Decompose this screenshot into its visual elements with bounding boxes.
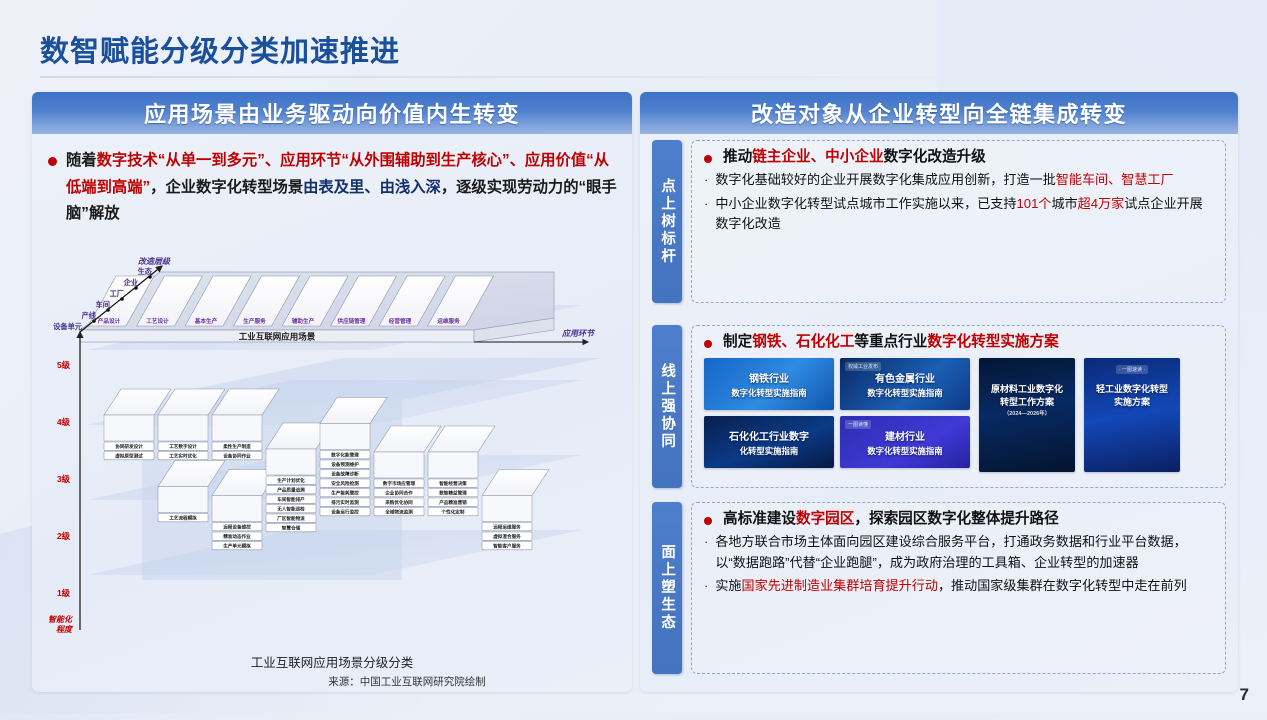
plane-label: 工业互联网应用场景 xyxy=(239,332,316,342)
maturity-level-label: 4级 xyxy=(57,417,71,427)
layer-level-label: 产线 xyxy=(82,311,97,320)
scene-box-label: 智能经营决策 xyxy=(439,480,467,487)
document-thumbnail[interactable]: 原材料工业数字化转型工作方案（2024—2026年） xyxy=(979,358,1075,472)
left-panel: 应用场景由业务驱动向价值内生转变 随着数字技术“从单一到多元”、应用环节“从外围… xyxy=(32,92,632,692)
section-tab-2[interactable]: 线上强协同 xyxy=(652,325,682,488)
section-heading: 推动链主企业、中小企业数字化改造升级 xyxy=(704,148,1215,167)
section-body-1: 推动链主企业、中小企业数字化改造升级· 数字化基础较好的企业开展数字化集成应用创… xyxy=(691,140,1226,303)
scene-box-label: 企业协同合作 xyxy=(384,490,413,497)
scene-box-label: 数字市场应管理 xyxy=(383,480,416,487)
scene-box-label: 数字化能管理 xyxy=(331,452,359,459)
diagram-source: 来源：中国工业互联网研究院绘制 xyxy=(32,674,632,689)
scene-box-label: 全域物流监测 xyxy=(384,509,413,516)
right-section-1: 点上树标杆 推动链主企业、中小企业数字化改造升级· 数字化基础较好的企业开展数字… xyxy=(652,140,1226,303)
axis-label-bottom-1: 智能化 xyxy=(48,615,74,624)
scene-box-label: 设备故障诊断 xyxy=(331,471,359,478)
thumb-grid-left: 钢铁行业数字化转型实施指南权威工业发布有色金属行业数字化转型实施指南石化化工行业… xyxy=(704,358,970,468)
thumbnail-subtitle: 数字化转型实施指南 xyxy=(840,389,970,399)
thumbnail-badge: · 一图速读 · xyxy=(1116,365,1148,374)
stage-card-label: 供应链管理 xyxy=(337,317,366,325)
page-title-wrap: 数智赋能分级分类加速推进 xyxy=(40,28,400,70)
axis-label-top: 改造层级 xyxy=(138,257,171,266)
thumbnail-subtitle: 实施方案 xyxy=(1084,397,1180,408)
document-thumbnail[interactable]: 石化化工行业数字化转型实施指南 xyxy=(704,416,834,468)
scene-grading-diagram: 产品设计工艺设计基本生产生产服务辅助生产供应链管理经营管理运维服务 工业互联网应… xyxy=(42,250,622,650)
thumbnail-subtitle: 数字化转型实施指南 xyxy=(840,447,970,457)
section-tab-1[interactable]: 点上树标杆 xyxy=(652,140,682,303)
thumbnail-title: 石化化工行业数字 xyxy=(704,432,834,444)
diagram-svg: 产品设计工艺设计基本生产生产服务辅助生产供应链管理经营管理运维服务 工业互联网应… xyxy=(42,250,622,650)
thumbnail-subtitle: 数字化转型实施指南 xyxy=(704,389,834,399)
layer-level-label: 生态 xyxy=(138,267,153,276)
sub-bullet-text: 数字化基础较好的企业开展数字化集成应用创新，打造一批智能车间、智慧工厂 xyxy=(715,170,1173,191)
sub-bullet-dot-icon: · xyxy=(704,194,708,214)
bullet-dot-icon xyxy=(704,155,712,163)
document-thumbnail[interactable]: 一图读懂建材行业数字化转型实施指南 xyxy=(840,416,970,468)
scene-box-label: 虚拟混合服务 xyxy=(493,533,521,540)
stage-card-label: 产品设计 xyxy=(98,317,121,325)
scene-box-label: 设备预测维护 xyxy=(331,461,359,468)
scene-box-label: 生产计划优化 xyxy=(277,477,305,484)
left-panel-bullet: 随着数字技术“从单一到多元”、应用环节“从外围辅助到生产核心”、应用价值“从低端… xyxy=(48,148,620,228)
document-thumbnail[interactable]: 权威工业发布有色金属行业数字化转型实施指南 xyxy=(840,358,970,410)
thumbnail-title: 建材行业 xyxy=(840,432,970,444)
scene-box-label: 排污实时监测 xyxy=(331,499,359,506)
axis-label-bottom-2: 程度 xyxy=(56,625,74,634)
thumb-row-2: 石化化工行业数字化转型实施指南一图读懂建材行业数字化转型实施指南 xyxy=(704,416,970,468)
sub-bullet-text: 各地方联合市场主体面向园区建设综合服务平台，打通政务数据和行业平台数据，以“数据… xyxy=(715,532,1215,573)
scene-box-label: 产品精准营销 xyxy=(439,499,467,506)
bullet-dot-icon xyxy=(704,517,712,525)
sub-bullet-dot-icon: · xyxy=(704,170,708,190)
bullet-dot-icon xyxy=(48,157,57,166)
document-thumbnail[interactable]: · 一图速读 ·轻工业数字化转型实施方案 xyxy=(1084,358,1180,472)
thumbnail-subtitle: 转型工作方案 xyxy=(979,397,1075,408)
scene-box-label: 精准动态作业 xyxy=(223,533,251,540)
scene-box-label: 智慧仓储 xyxy=(282,525,301,532)
section-tab-label: 点上树标杆 xyxy=(659,178,675,266)
scene-box-label: 工艺实时优化 xyxy=(169,453,197,460)
section-body-2: 制定钢铁、石化化工等重点行业数字化转型实施方案钢铁行业数字化转型实施指南权威工业… xyxy=(691,325,1226,488)
scene-box-label: 生产能耗管控 xyxy=(331,490,359,497)
sub-bullet-text: 实施国家先进制造业集群培育提升行动，推动国家级集群在数字化转型中走在前列 xyxy=(715,576,1186,597)
thumbnail-title: 有色金属行业 xyxy=(840,374,970,386)
title-divider xyxy=(40,76,1230,78)
axis-label-right: 应用环节 xyxy=(561,329,596,338)
section-tab-label: 面上塑生态 xyxy=(659,544,675,632)
maturity-level-label: 2级 xyxy=(57,531,71,541)
page-title: 数智赋能分级分类加速推进 xyxy=(40,28,400,70)
scene-box-label: 智能客户服务 xyxy=(493,543,521,550)
scene-box-label: 数智精益管理 xyxy=(439,490,467,497)
section-sub-bullet: · 各地方联合市场主体面向园区建设综合服务平台，打通政务数据和行业平台数据，以“… xyxy=(704,532,1215,573)
thumbnail-title: 原材料工业数字化 xyxy=(979,384,1075,395)
stage-card-label: 运维服务 xyxy=(437,317,460,325)
scene-box-label: 采购优化协同 xyxy=(384,499,413,506)
sub-bullet-dot-icon: · xyxy=(704,532,708,552)
scene-box-label: 产品质量追溯 xyxy=(277,487,305,494)
thumbnail-title: 轻工业数字化转型 xyxy=(1084,384,1180,395)
page-number: 7 xyxy=(1240,685,1249,705)
section-tab-3[interactable]: 面上塑生态 xyxy=(652,502,682,674)
right-panel-header: 改造对象从企业转型向全链集成转变 xyxy=(640,92,1238,134)
section-sub-bullet: · 中小企业数字化转型试点城市工作实施以来，已支持101个城市超4万家试点企业开… xyxy=(704,194,1215,235)
stage-card-label: 经营管理 xyxy=(389,317,412,325)
section-heading-text: 推动链主企业、中小企业数字化改造升级 xyxy=(723,148,986,167)
thumbnail-badge: 权威工业发布 xyxy=(845,362,881,371)
thumbnail-dateline: （2024—2026年） xyxy=(979,411,1075,417)
thumbnail-badge: 一图读懂 xyxy=(845,420,871,429)
scene-box-label: 协同研发设计 xyxy=(115,443,143,450)
thumbnail-subtitle: 化转型实施指南 xyxy=(704,447,834,457)
maturity-level-label: 3级 xyxy=(57,474,71,484)
scene-box-label: 厂区智能物流 xyxy=(277,515,305,522)
stage-card-label: 工艺设计 xyxy=(146,317,169,325)
layer-level-label: 企业 xyxy=(123,278,138,287)
stage-card-label: 辅助生产 xyxy=(292,317,315,325)
maturity-level-label: 5级 xyxy=(57,360,71,370)
document-thumbnails: 钢铁行业数字化转型实施指南权威工业发布有色金属行业数字化转型实施指南石化化工行业… xyxy=(704,358,1215,472)
scene-box-label: 个性化定制 xyxy=(441,509,465,516)
stage-card-label: 生产服务 xyxy=(243,317,266,325)
section-sub-bullet: · 数字化基础较好的企业开展数字化集成应用创新，打造一批智能车间、智慧工厂 xyxy=(704,170,1215,191)
scene-box-label: 远程设备维控 xyxy=(223,524,251,531)
scene-box-label: 工艺流程模拟 xyxy=(169,515,197,522)
thumb-row-1: 钢铁行业数字化转型实施指南权威工业发布有色金属行业数字化转型实施指南 xyxy=(704,358,970,410)
right-section-2: 线上强协同 制定钢铁、石化化工等重点行业数字化转型实施方案钢铁行业数字化转型实施… xyxy=(652,325,1226,488)
left-bullet-text: 随着数字技术“从单一到多元”、应用环节“从外围辅助到生产核心”、应用价值“从低端… xyxy=(66,148,620,228)
sub-bullet-text: 中小企业数字化转型试点城市工作实施以来，已支持101个城市超4万家试点企业开展数… xyxy=(715,194,1215,235)
section-sub-bullet: · 实施国家先进制造业集群培育提升行动，推动国家级集群在数字化转型中走在前列 xyxy=(704,576,1215,597)
thumbnail-title: 钢铁行业 xyxy=(704,374,834,386)
section-heading: 高标准建设数字园区，探索园区数字化整体提升路径 xyxy=(704,510,1215,529)
right-panel: 改造对象从企业转型向全链集成转变 点上树标杆 推动链主企业、中小企业数字化改造升… xyxy=(640,92,1238,692)
scene-box-label: 无人智能巡检 xyxy=(276,506,305,513)
scene-box-label: 虚拟原型测试 xyxy=(115,453,143,460)
right-section-3: 面上塑生态 高标准建设数字园区，探索园区数字化整体提升路径· 各地方联合市场主体… xyxy=(652,502,1226,674)
scene-box-label: 柔性生产制造 xyxy=(222,443,251,450)
section-tab-label: 线上强协同 xyxy=(659,363,675,451)
section-heading-text: 制定钢铁、石化化工等重点行业数字化转型实施方案 xyxy=(723,333,1059,352)
stage-card-label: 基本生产 xyxy=(194,317,218,325)
scene-box-label: 车间智能排产 xyxy=(277,496,305,503)
sub-bullet-dot-icon: · xyxy=(704,576,708,596)
section-heading: 制定钢铁、石化化工等重点行业数字化转型实施方案 xyxy=(704,333,1215,352)
document-thumbnail[interactable]: 钢铁行业数字化转型实施指南 xyxy=(704,358,834,410)
scene-box-label: 生产单元模拟 xyxy=(223,543,251,550)
section-body-3: 高标准建设数字园区，探索园区数字化整体提升路径· 各地方联合市场主体面向园区建设… xyxy=(691,502,1226,674)
scene-box-label: 设备协同作业 xyxy=(223,453,251,460)
scene-box-label: 远程运维服务 xyxy=(493,524,521,531)
scene-box-label: 工艺数字设计 xyxy=(169,443,197,450)
maturity-level-label: 1级 xyxy=(57,588,71,598)
layer-level-label: 设备单元 xyxy=(53,322,83,331)
diagram-caption: 工业互联网应用场景分级分类 xyxy=(32,652,632,671)
scene-box-label: 安全风险检测 xyxy=(331,480,359,487)
section-heading-text: 高标准建设数字园区，探索园区数字化整体提升路径 xyxy=(723,510,1059,529)
bullet-dot-icon xyxy=(704,340,712,348)
left-panel-header: 应用场景由业务驱动向价值内生转变 xyxy=(32,92,632,134)
layer-level-label: 工厂 xyxy=(110,289,124,298)
layer-level-label: 车间 xyxy=(96,300,110,309)
scene-box-label: 设备运行监控 xyxy=(331,509,359,516)
